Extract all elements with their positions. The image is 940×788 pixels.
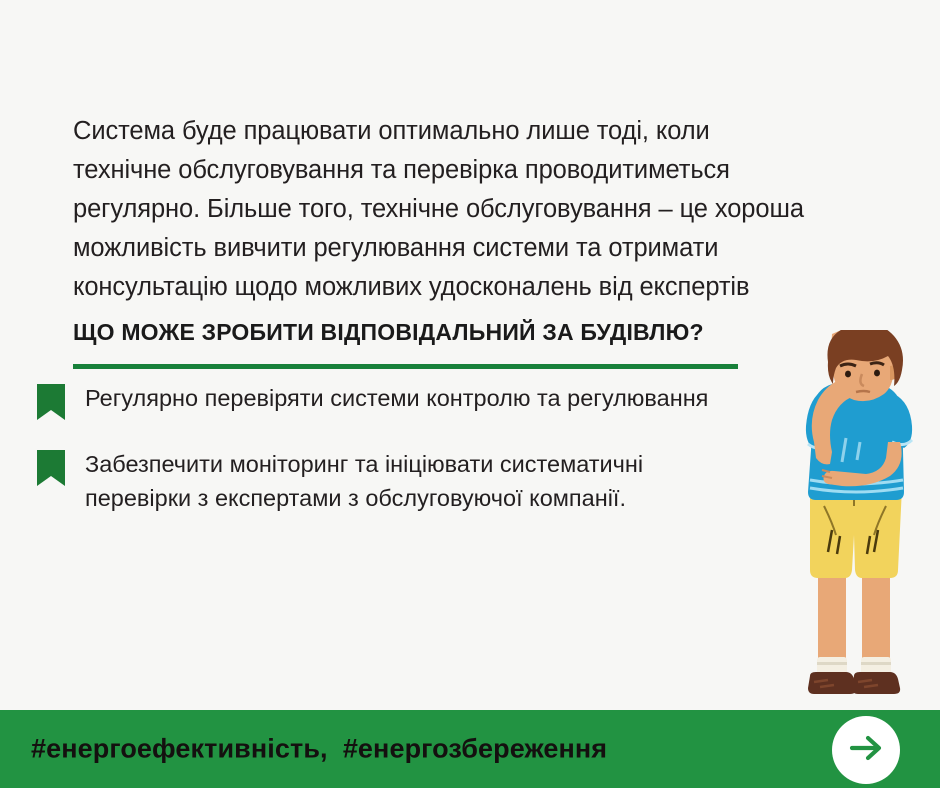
green-bookmark-icon <box>37 450 65 486</box>
bullet-list: Регулярно перевіряти системи контролю та… <box>0 381 800 541</box>
arrow-right-icon <box>845 727 887 774</box>
green-bookmark-icon <box>37 384 65 420</box>
heading-underline-rule <box>73 364 738 369</box>
section-heading: ЩО МОЖЕ ЗРОБИТИ ВІДПОВІДАЛЬНИЙ ЗА БУДІВЛ… <box>73 319 873 346</box>
list-item-label: Забезпечити моніторинг та ініціювати сис… <box>85 447 800 515</box>
slide-canvas: Система буде працювати оптимально лише т… <box>0 0 940 788</box>
hashtags-label: #енергоефективність, #енергозбереження <box>31 734 607 765</box>
list-item: Регулярно перевіряти системи контролю та… <box>0 381 800 421</box>
next-slide-button[interactable] <box>832 716 900 784</box>
list-item: Забезпечити моніторинг та ініціювати сис… <box>0 447 800 515</box>
list-item-label: Регулярно перевіряти системи контролю та… <box>85 381 800 415</box>
intro-paragraph: Система буде працювати оптимально лише т… <box>73 112 863 307</box>
footer-bar: #енергоефективність, #енергозбереження <box>0 710 940 788</box>
thinking-man-illustration <box>770 330 940 715</box>
